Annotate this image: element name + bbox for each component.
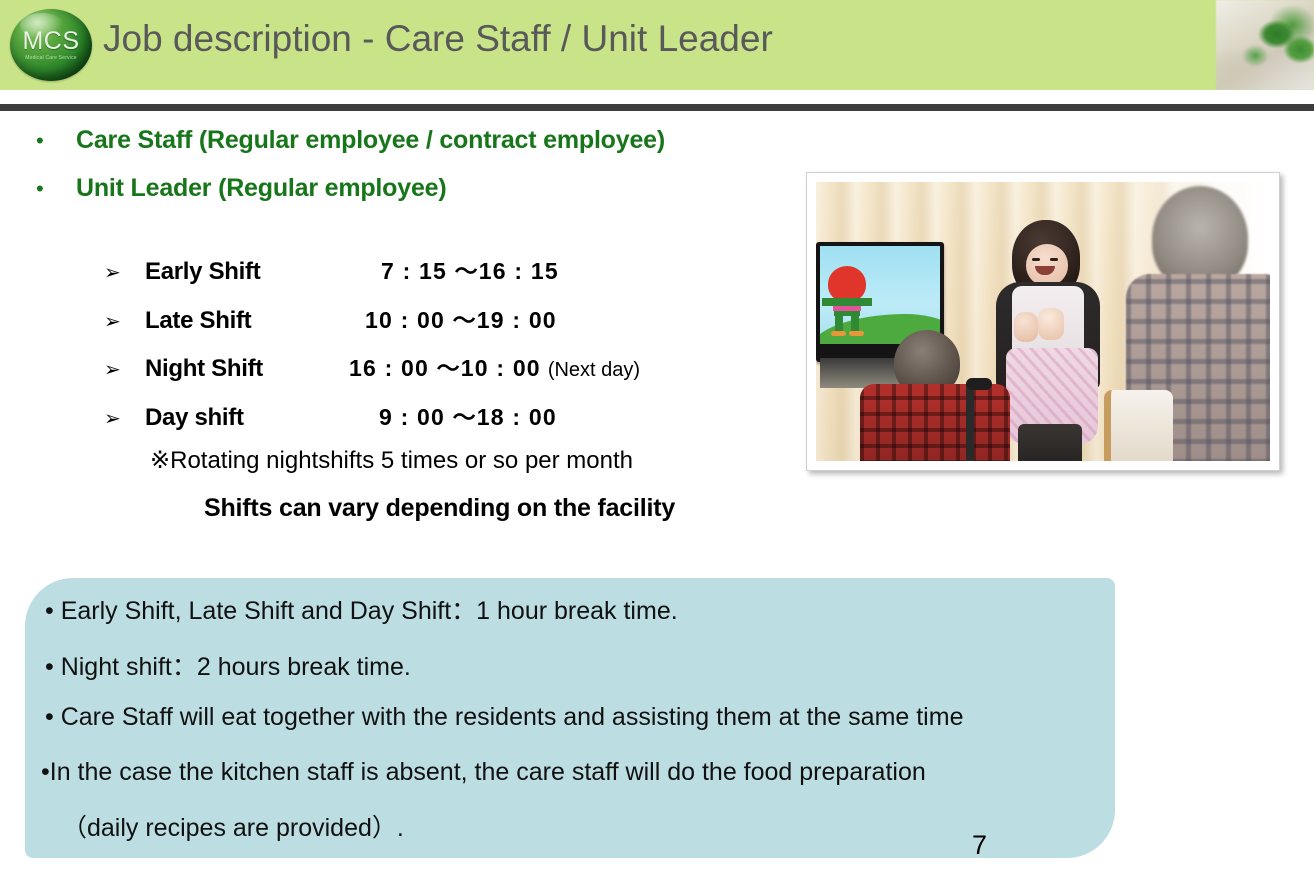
page-title: Job description - Care Staff / Unit Lead… xyxy=(103,18,773,60)
resident-wheelchair-body xyxy=(860,384,1010,461)
rotating-nightshift-note: ※Rotating nightshifts 5 times or so per … xyxy=(150,446,633,475)
shift-time: 10 : 00 ～19 : 00 xyxy=(365,301,557,335)
note-line: • Early Shift, Late Shift and Day Shift：… xyxy=(45,591,678,627)
arrow-bullet-icon: ➢ xyxy=(104,360,145,380)
shift-row: ➢ Late Shift 10 : 00 ～19 : 00 xyxy=(104,301,564,335)
shift-row: ➢ Night Shift 16 : 00 ～10 : 00 (Next day… xyxy=(104,349,640,383)
bullet-dot-icon: • xyxy=(36,178,76,200)
cartoon-belt xyxy=(833,306,861,311)
cartoon-head xyxy=(828,266,866,302)
arrow-bullet-icon: ➢ xyxy=(104,312,145,332)
note-line: • Night shift：2 hours break time. xyxy=(45,647,411,683)
shift-time: 9 : 00 ～18 : 00 xyxy=(379,398,557,432)
shift-note: (Next day) xyxy=(548,359,640,382)
wheelchair-frame xyxy=(966,380,974,461)
header-vegetable-photo xyxy=(1216,0,1314,90)
shift-name: Night Shift xyxy=(145,355,363,383)
logo-subtext: Medical Care Service xyxy=(10,56,92,61)
note-line: • Care Staff will eat together with the … xyxy=(45,703,963,732)
shift-name: Day shift xyxy=(145,404,363,432)
caregiver-face xyxy=(1026,244,1068,286)
cartoon-arm-left xyxy=(822,298,834,306)
caregiver-hand-left xyxy=(1014,312,1038,342)
mcs-logo: MCS Medical Care Service xyxy=(10,9,92,81)
role-bullet-care-staff: • Care Staff (Regular employee / contrac… xyxy=(36,126,665,155)
arrow-bullet-icon: ➢ xyxy=(104,409,145,429)
cartoon-foot-right xyxy=(849,331,864,336)
bullet-dot-icon: • xyxy=(36,130,76,152)
logo-text: MCS xyxy=(10,29,92,54)
cartoon-arm-right xyxy=(860,298,872,306)
shift-name: Late Shift xyxy=(145,307,363,335)
wheelchair-handle xyxy=(966,378,992,390)
header-divider xyxy=(0,104,1314,111)
page-number: 7 xyxy=(972,830,987,861)
role-bullet-unit-leader: • Unit Leader (Regular employee) xyxy=(36,174,446,203)
shift-name: Early Shift xyxy=(145,258,363,286)
caregiver-hand-right xyxy=(1038,308,1064,340)
cartoon-foot-left xyxy=(831,331,846,336)
caregiver-eye-right xyxy=(1050,258,1058,261)
caregiver-legs xyxy=(1018,424,1082,461)
caregiver-eye-left xyxy=(1032,258,1040,261)
shift-row: ➢ Day shift 9 : 00 ～18 : 00 xyxy=(104,398,564,432)
role-label: Unit Leader (Regular employee) xyxy=(76,174,446,203)
note-line: （daily recipes are provided）. xyxy=(62,808,404,844)
armchair xyxy=(1104,390,1173,461)
shift-time: 16 : 00 ～10 : 00 xyxy=(349,349,541,383)
care-activity-photo xyxy=(806,172,1280,471)
shifts-vary-note: Shifts can vary depending on the facilit… xyxy=(204,494,675,523)
shift-time: 7 : 15 ～16 : 15 xyxy=(381,252,559,286)
care-activity-photo-content xyxy=(816,182,1270,461)
shift-row: ➢ Early Shift 7 : 15 ～16 : 15 xyxy=(104,252,566,286)
role-label: Care Staff (Regular employee / contract … xyxy=(76,126,665,155)
arrow-bullet-icon: ➢ xyxy=(104,263,145,283)
note-line: •In the case the kitchen staff is absent… xyxy=(41,758,926,787)
